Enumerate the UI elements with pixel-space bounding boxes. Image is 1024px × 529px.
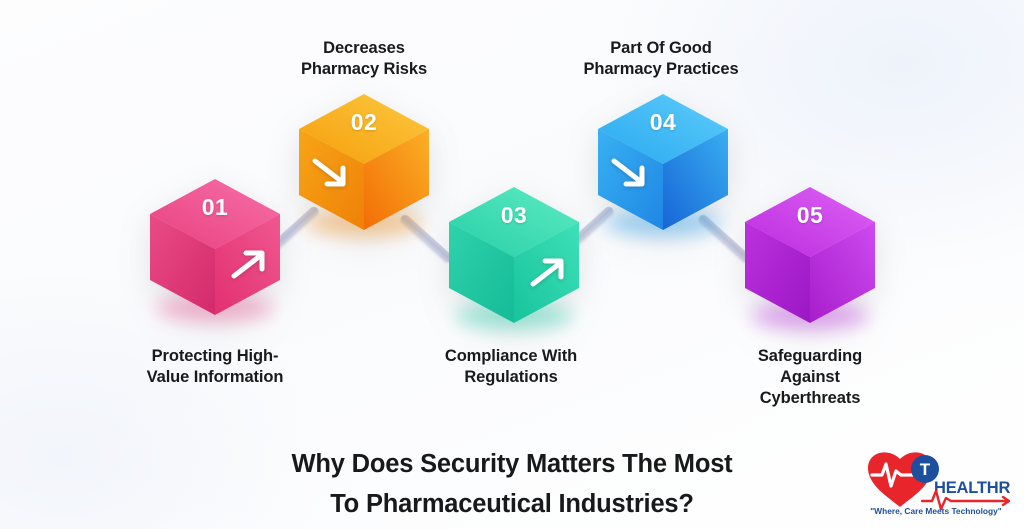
step-label-02: Decreases Pharmacy Risks <box>259 38 469 80</box>
step-label-04: Part Of Good Pharmacy Practices <box>553 38 769 80</box>
logo-brand: HEALTHRAY <box>934 479 1010 497</box>
step-label-03: Compliance With Regulations <box>411 346 611 388</box>
infographic-canvas: 01 Protecting High- Value Information <box>0 0 1024 529</box>
step-label-05: Safeguarding Against Cyberthreats <box>728 346 892 409</box>
step-cube-01[interactable]: 01 <box>147 177 283 317</box>
step-cube-02[interactable]: 02 <box>296 92 432 232</box>
step-label-01: Protecting High- Value Information <box>115 346 315 388</box>
healthray-logo[interactable]: T HEALTHRAY "Where, Care Meets Technolog… <box>862 441 1010 517</box>
logo-tagline: "Where, Care Meets Technology" <box>870 506 1002 516</box>
step-cube-03[interactable]: 03 <box>446 185 582 325</box>
step-cube-05[interactable]: 05 <box>742 185 878 325</box>
step-cube-04[interactable]: 04 <box>595 92 731 232</box>
logo-monogram: T <box>920 460 931 479</box>
